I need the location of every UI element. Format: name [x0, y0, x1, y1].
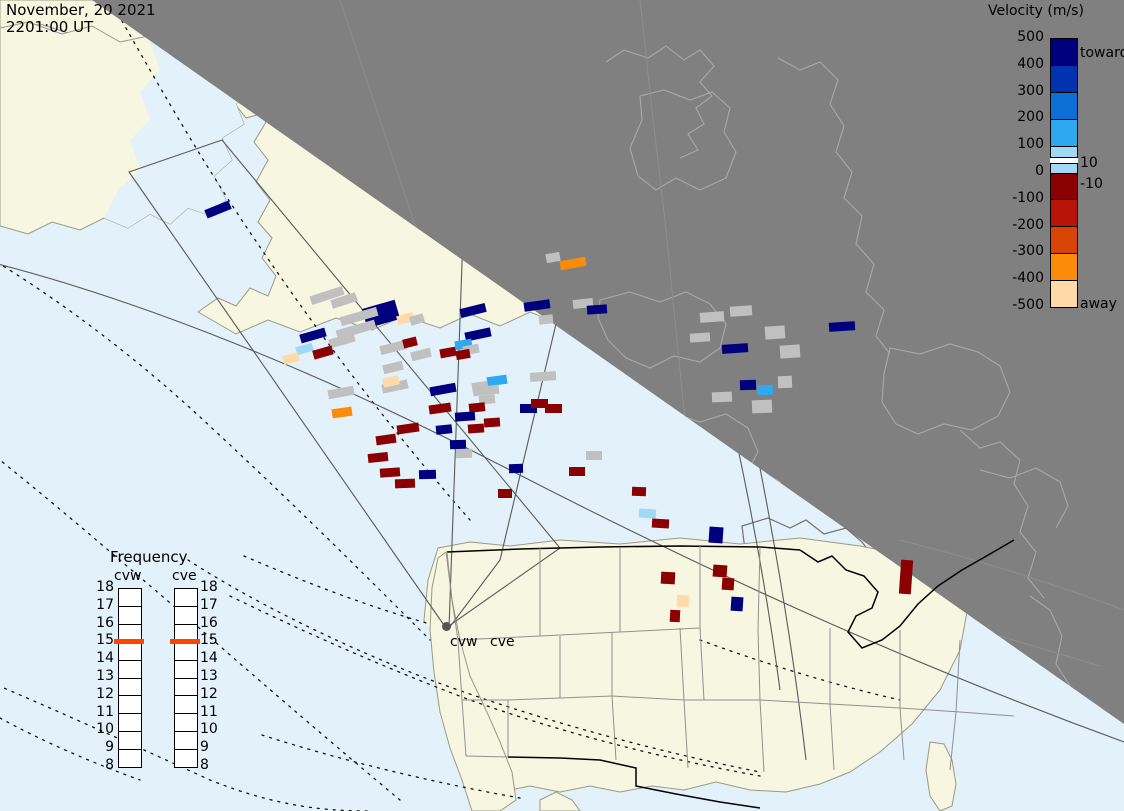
colorbar-swatch-8 [1051, 254, 1077, 281]
velocity-cell [395, 479, 415, 489]
frequency-tick-17: 17 [92, 597, 114, 613]
frequency-cell [119, 750, 141, 767]
velocity-cell [569, 467, 585, 476]
velocity-cell [587, 304, 608, 314]
velocity-cell [722, 343, 749, 354]
frequency-cell [175, 732, 197, 750]
colorbar-away-label: away [1080, 296, 1117, 312]
frequency-marker-cvw [114, 639, 144, 644]
frequency-title: Frequency [110, 548, 188, 566]
velocity-cell [469, 402, 486, 413]
station-label-cvw: cvw [450, 634, 477, 650]
frequency-bar-cvw [118, 588, 142, 768]
frequency-tick-10: 10 [92, 721, 114, 737]
velocity-cell [652, 519, 669, 529]
colorbar-swatch-9 [1051, 281, 1077, 307]
ground-scatter-cell [778, 376, 792, 388]
frequency-tick-15: 15 [92, 632, 114, 648]
ground-scatter-cell [586, 451, 602, 460]
frequency-tick-11: 11 [92, 704, 114, 720]
velocity-cell [419, 470, 436, 480]
frequency-tick-18: 18 [92, 579, 114, 595]
frequency-tick-8: 8 [92, 757, 114, 773]
frequency-tick-16: 16 [200, 615, 222, 631]
colorbar-swatches [1050, 38, 1078, 308]
frequency-tick-13: 13 [200, 668, 222, 684]
colorbar-swatch-6 [1051, 200, 1077, 227]
frequency-cell [119, 679, 141, 697]
radar-site-marker [442, 622, 451, 631]
frequency-tick-14: 14 [92, 650, 114, 666]
frequency-cell [119, 732, 141, 750]
colorbar-tick--300: -300 [980, 243, 1044, 259]
ground-scatter-cell [780, 344, 801, 358]
ground-scatter-cell [456, 449, 472, 459]
velocity-cell [677, 595, 690, 608]
ground-scatter-cell [700, 311, 725, 323]
colorbar-swatch-3 [1051, 120, 1077, 147]
frequency-tick-11: 11 [200, 704, 222, 720]
frequency-cell [175, 696, 197, 714]
velocity-cell [468, 423, 485, 433]
frequency-cell [119, 643, 141, 661]
colorbar-tick--400: -400 [980, 270, 1044, 286]
frequency-tick-12: 12 [92, 686, 114, 702]
frequency-header-cvw: cvw [114, 568, 141, 584]
velocity-cell [632, 487, 646, 496]
frequency-bar-cve [174, 588, 198, 768]
colorbar-swatch-1 [1051, 66, 1077, 93]
velocity-cell [509, 464, 523, 473]
frequency-cell [119, 589, 141, 607]
colorbar-swatch-0 [1051, 39, 1077, 66]
frequency-tick-13: 13 [92, 668, 114, 684]
colorbar-tick--500: -500 [980, 297, 1044, 313]
frequency-marker-cve [170, 639, 200, 644]
velocity-cell [708, 527, 723, 544]
ground-scatter-cell [690, 332, 711, 342]
velocity-cell [545, 404, 562, 413]
colorbar-plus-threshold: 10 [1080, 155, 1098, 171]
colorbar-tick-200: 200 [980, 109, 1044, 125]
page-title: November, 20 20212201:00 UT [6, 2, 156, 36]
frequency-cell [119, 661, 141, 679]
frequency-tick-14: 14 [200, 650, 222, 666]
frequency-cell [175, 679, 197, 697]
colorbar-toward-label: toward [1080, 45, 1124, 61]
velocity-cell [450, 440, 466, 450]
colorbar-minus-threshold: -10 [1080, 176, 1103, 192]
velocity-cell [670, 610, 681, 623]
velocity-colorbar: Velocity (m/s) 5004003002001000-100-200-… [980, 0, 1124, 340]
frequency-tick-15: 15 [200, 632, 222, 648]
velocity-cell [484, 417, 501, 427]
frequency-tick-16: 16 [92, 615, 114, 631]
frequency-tick-18: 18 [200, 579, 222, 595]
frequency-tick-8: 8 [200, 757, 222, 773]
velocity-cell [455, 411, 476, 421]
velocity-cell [757, 385, 773, 396]
velocity-cell [829, 321, 856, 332]
frequency-header-cve: cve [172, 568, 197, 584]
title-time: 2201:00 UT [6, 18, 93, 36]
velocity-cell [661, 572, 676, 585]
frequency-cell [175, 589, 197, 607]
frequency-tick-12: 12 [200, 686, 222, 702]
colorbar-swatch-7 [1051, 227, 1077, 254]
frequency-cell [175, 714, 197, 732]
colorbar-tick--200: -200 [980, 217, 1044, 233]
colorbar-swatch-2 [1051, 93, 1077, 120]
frequency-tick-10: 10 [200, 721, 222, 737]
velocity-cell [498, 489, 512, 498]
frequency-cell [119, 607, 141, 625]
ground-scatter-cell [730, 305, 753, 317]
ground-scatter-cell [712, 392, 732, 403]
frequency-tick-9: 9 [200, 739, 222, 755]
colorbar-zero-band [1050, 157, 1078, 164]
ground-scatter-cell [530, 371, 557, 382]
frequency-tick-9: 9 [92, 739, 114, 755]
colorbar-tick-500: 500 [980, 29, 1044, 45]
velocity-cell [380, 467, 401, 477]
ground-scatter-cell [765, 325, 786, 339]
frequency-cell [175, 607, 197, 625]
colorbar-tick-100: 100 [980, 136, 1044, 152]
title-date: November, 20 2021 [6, 1, 156, 19]
frequency-cell [119, 696, 141, 714]
velocity-cell [436, 424, 453, 435]
colorbar-tick-400: 400 [980, 56, 1044, 72]
velocity-cell [722, 578, 735, 591]
ground-scatter-cell [752, 400, 772, 414]
frequency-legend: Frequency cvw cve 18171615141312111098 1… [88, 548, 238, 776]
colorbar-tick-0: 0 [980, 163, 1044, 179]
velocity-cell [740, 380, 756, 391]
frequency-cell [175, 661, 197, 679]
station-label-cve: cve [490, 634, 515, 650]
colorbar-tick--100: -100 [980, 190, 1044, 206]
velocity-cell [899, 560, 913, 595]
ground-scatter-cell [539, 314, 554, 324]
frequency-tick-17: 17 [200, 597, 222, 613]
frequency-cell [119, 714, 141, 732]
colorbar-swatch-5 [1051, 174, 1077, 201]
frequency-cell [175, 750, 197, 767]
velocity-cell [639, 509, 656, 519]
velocity-cell [713, 565, 728, 578]
colorbar-tick-300: 300 [980, 83, 1044, 99]
frequency-cell [175, 643, 197, 661]
colorbar-title: Velocity (m/s) [988, 3, 1084, 19]
velocity-cell [731, 597, 744, 612]
superdarn-fan-plot: November, 20 20212201:00 UT cvw cve Velo… [0, 0, 1124, 811]
